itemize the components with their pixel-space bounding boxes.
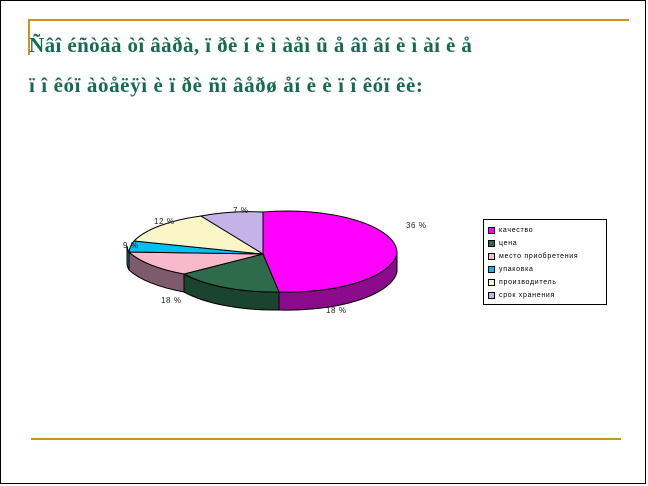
accent-rule-bottom bbox=[31, 438, 621, 440]
legend-swatch-icon bbox=[488, 253, 495, 260]
legend-item-cena: цена bbox=[488, 237, 603, 250]
legend-swatch-icon bbox=[488, 240, 495, 247]
legend-label: место приобретения bbox=[499, 253, 578, 260]
legend-item-kachestvo: качество bbox=[488, 224, 603, 237]
legend-label: производитель bbox=[499, 279, 557, 286]
slide-title-line-2: ï î êóï àòåëÿì è ï ðè ñî âåðø åí è è ï î… bbox=[29, 65, 629, 105]
pie-value-label: 9 % bbox=[123, 241, 139, 250]
slide-canvas: Ñâî éñòâà òî âàðà, ï ðè í è ì àåì û å âî… bbox=[0, 0, 646, 484]
slide-title: Ñâî éñòâà òî âàðà, ï ðè í è ì àåì û å âî… bbox=[29, 25, 629, 105]
legend-item-upakovka: упаковка bbox=[488, 263, 603, 276]
legend-item-mesto-priobreteniya: место приобретения bbox=[488, 250, 603, 263]
legend-swatch-icon bbox=[488, 266, 495, 273]
pie-value-label: 36 % bbox=[406, 221, 427, 230]
legend-label: качество bbox=[499, 227, 533, 234]
accent-rule-top bbox=[29, 19, 629, 21]
legend-item-srok-hraneniya: срок хранения bbox=[488, 289, 603, 302]
chart-legend: качество цена место приобретения упаковк… bbox=[483, 219, 607, 305]
legend-label: срок хранения bbox=[499, 292, 555, 299]
legend-label: упаковка bbox=[499, 266, 534, 273]
pie-value-label: 18 % bbox=[326, 306, 347, 315]
pie-value-label: 18 % bbox=[161, 296, 182, 305]
legend-swatch-icon bbox=[488, 279, 495, 286]
legend-item-proizvoditel: производитель bbox=[488, 276, 603, 289]
pie-value-label: 12 % bbox=[154, 217, 175, 226]
pie-value-label: 7 % bbox=[233, 206, 249, 215]
slide-title-line-1: Ñâî éñòâà òî âàðà, ï ðè í è ì àåì û å âî… bbox=[29, 25, 629, 65]
legend-swatch-icon bbox=[488, 227, 495, 234]
legend-label: цена bbox=[499, 240, 517, 247]
legend-swatch-icon bbox=[488, 292, 495, 299]
